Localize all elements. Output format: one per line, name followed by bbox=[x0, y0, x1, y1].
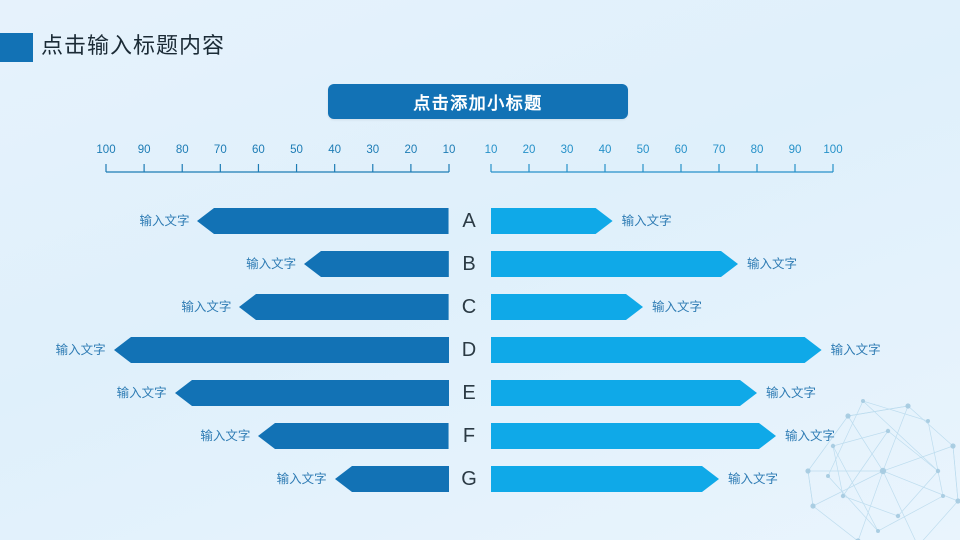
bar-left-label: 输入文字 bbox=[277, 466, 327, 492]
bar-left[interactable] bbox=[239, 294, 449, 320]
row-category-letter: E bbox=[452, 380, 486, 406]
bar-right[interactable] bbox=[491, 294, 643, 320]
slide-canvas: 点击输入标题内容 点击添加小标题 100908070605040302010 1… bbox=[0, 0, 960, 540]
bar-left[interactable] bbox=[335, 466, 449, 492]
chart-row: 输入文字G输入文字 bbox=[0, 466, 960, 492]
bar-left[interactable] bbox=[175, 380, 449, 406]
bar-left[interactable] bbox=[197, 208, 449, 234]
bar-left[interactable] bbox=[304, 251, 449, 277]
bar-left-label: 输入文字 bbox=[181, 294, 231, 320]
row-category-letter: A bbox=[452, 208, 486, 234]
bar-right-label: 输入文字 bbox=[747, 251, 797, 277]
row-category-letter: F bbox=[452, 423, 486, 449]
chart-row: 输入文字C输入文字 bbox=[0, 294, 960, 320]
row-category-letter: G bbox=[452, 466, 486, 492]
bar-right-label: 输入文字 bbox=[766, 380, 816, 406]
chart-row: 输入文字B输入文字 bbox=[0, 251, 960, 277]
bar-right-label: 输入文字 bbox=[622, 208, 672, 234]
bar-left-label: 输入文字 bbox=[246, 251, 296, 277]
bar-right[interactable] bbox=[491, 466, 719, 492]
bar-right[interactable] bbox=[491, 337, 822, 363]
chart-row: 输入文字F输入文字 bbox=[0, 423, 960, 449]
bar-right[interactable] bbox=[491, 423, 776, 449]
chart-row: 输入文字E输入文字 bbox=[0, 380, 960, 406]
bar-right[interactable] bbox=[491, 380, 757, 406]
bar-right-label: 输入文字 bbox=[652, 294, 702, 320]
bar-left[interactable] bbox=[114, 337, 449, 363]
tornado-chart-rows: 输入文字A输入文字输入文字B输入文字输入文字C输入文字输入文字D输入文字输入文字… bbox=[0, 0, 960, 540]
bar-left-label: 输入文字 bbox=[117, 380, 167, 406]
bar-left-label: 输入文字 bbox=[56, 337, 106, 363]
row-category-letter: C bbox=[452, 294, 486, 320]
bar-left[interactable] bbox=[258, 423, 449, 449]
chart-row: 输入文字A输入文字 bbox=[0, 208, 960, 234]
bar-right[interactable] bbox=[491, 251, 738, 277]
bar-right-label: 输入文字 bbox=[728, 466, 778, 492]
bar-right-label: 输入文字 bbox=[785, 423, 835, 449]
bar-right[interactable] bbox=[491, 208, 613, 234]
row-category-letter: D bbox=[452, 337, 486, 363]
bar-right-label: 输入文字 bbox=[831, 337, 881, 363]
chart-row: 输入文字D输入文字 bbox=[0, 337, 960, 363]
bar-left-label: 输入文字 bbox=[139, 208, 189, 234]
row-category-letter: B bbox=[452, 251, 486, 277]
bar-left-label: 输入文字 bbox=[200, 423, 250, 449]
